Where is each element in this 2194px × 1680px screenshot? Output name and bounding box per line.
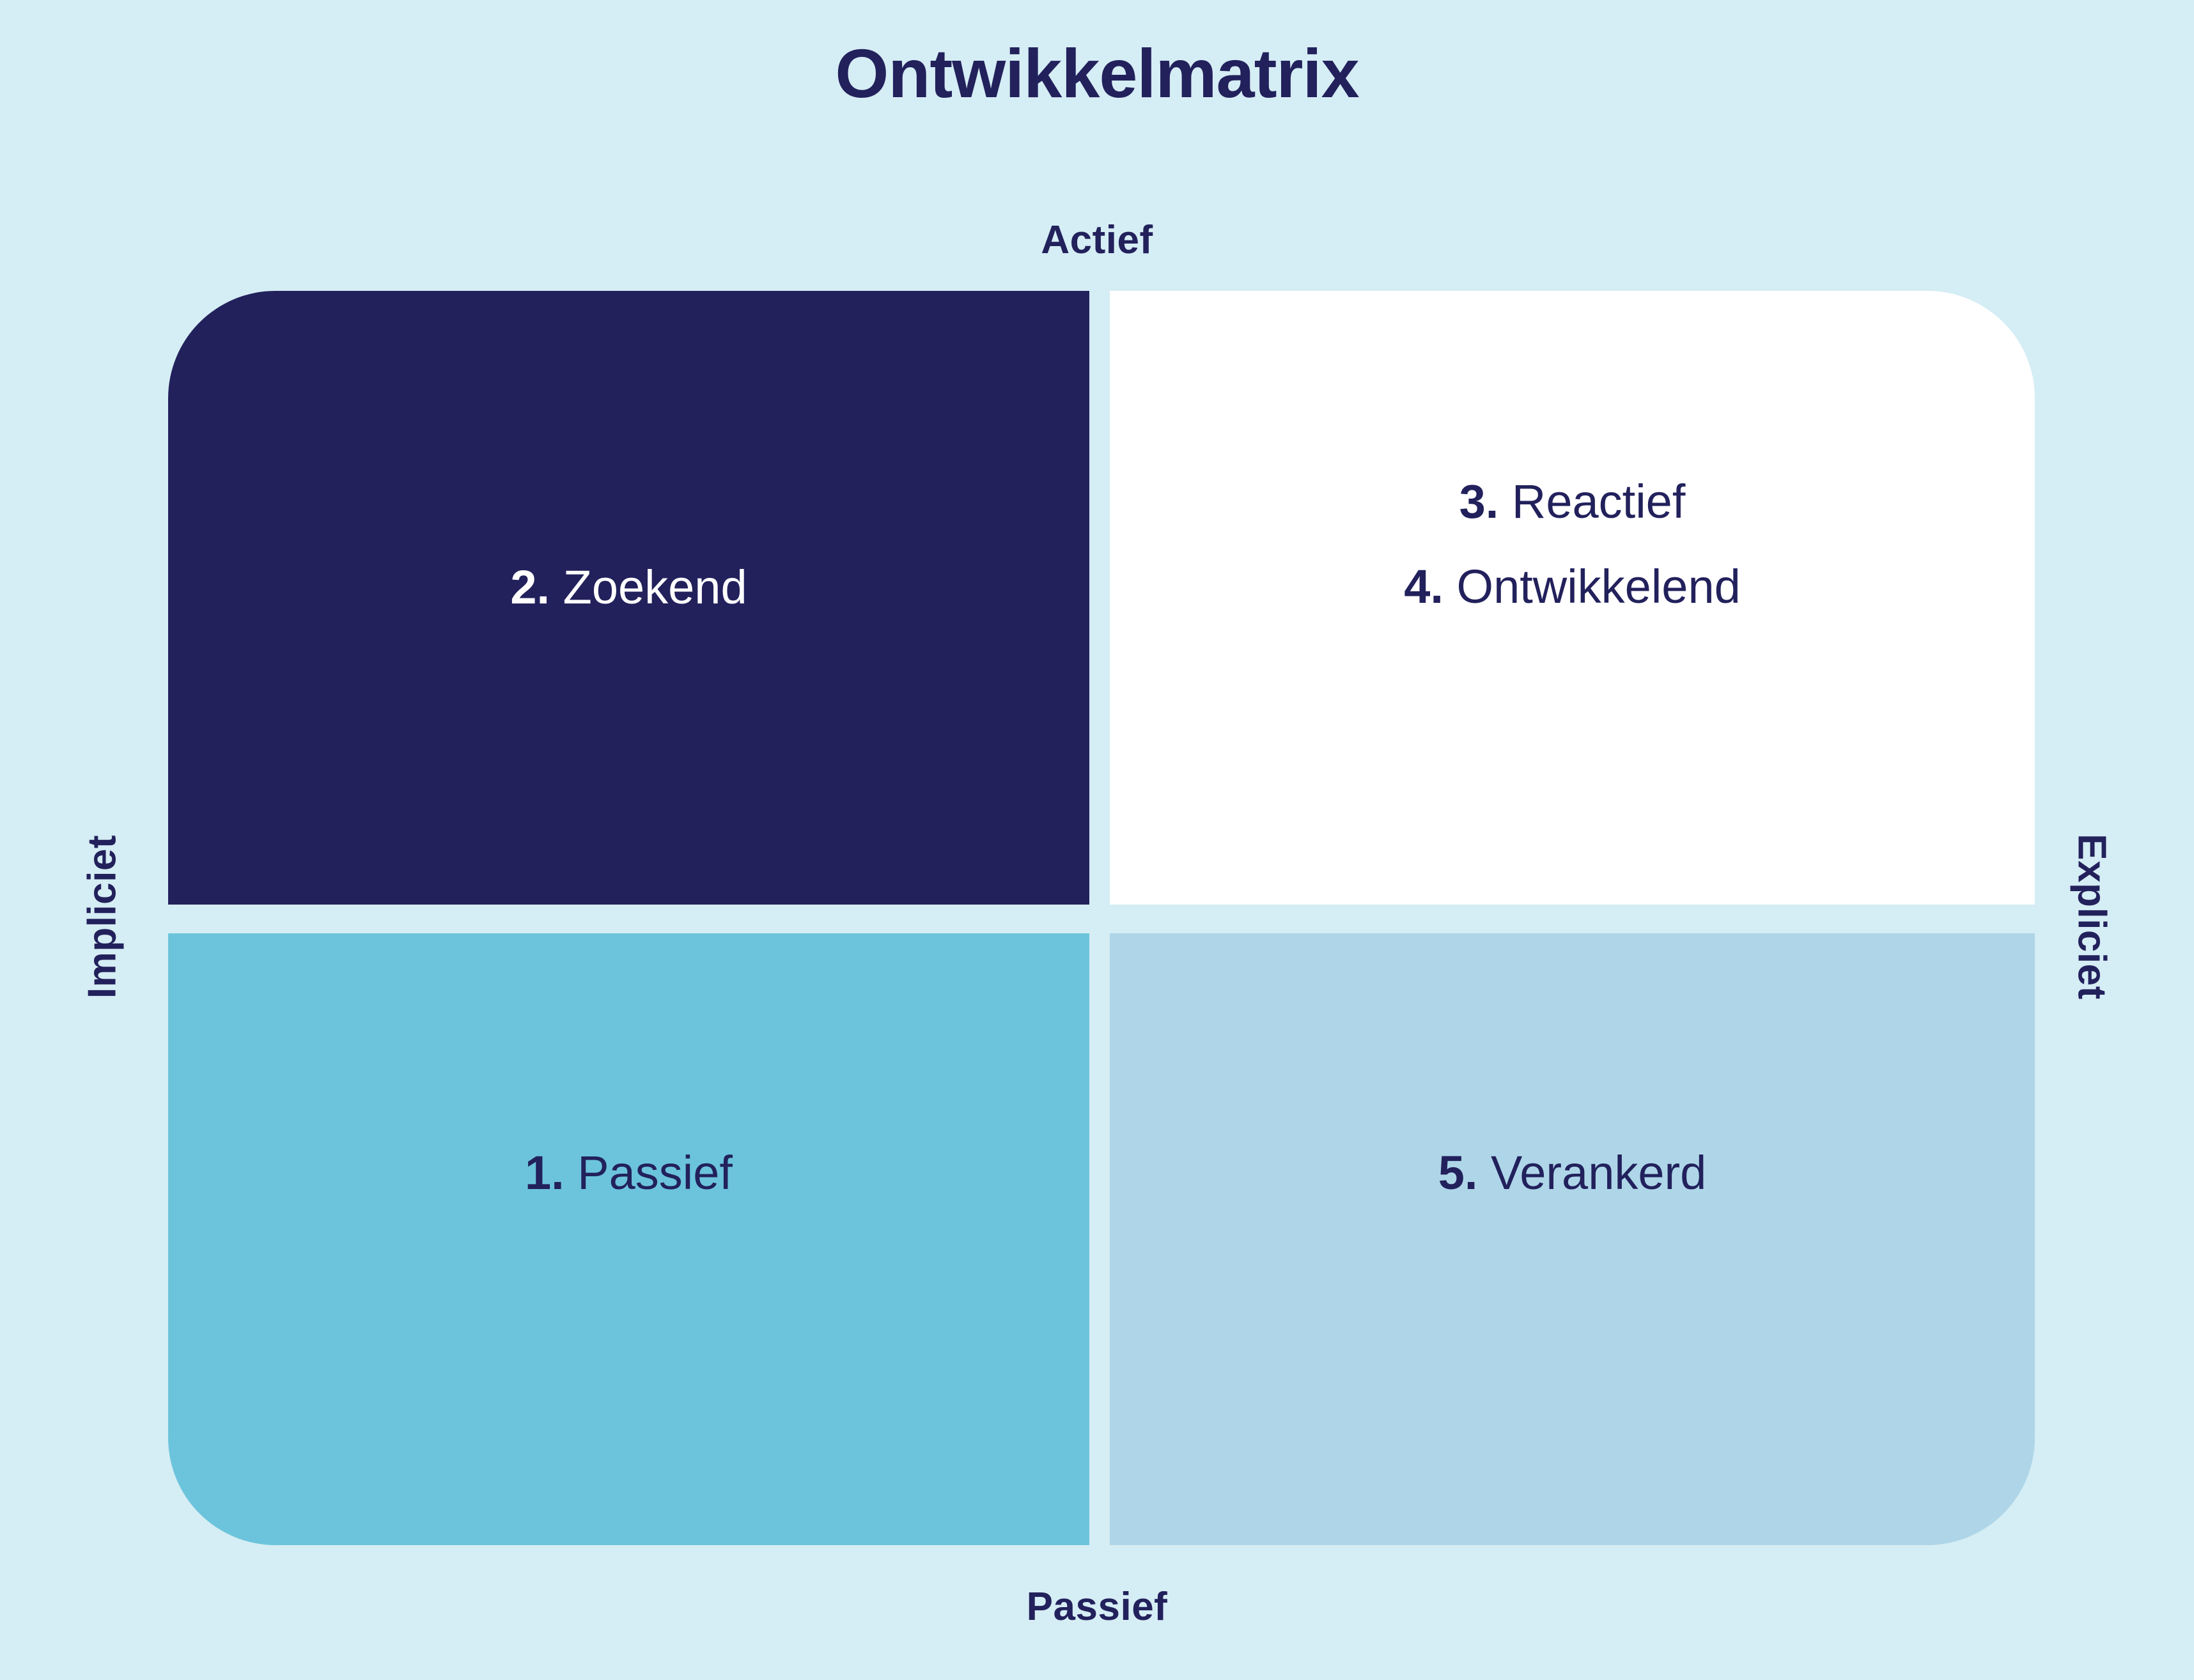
quadrant-entry: 3. Reactief [1404, 476, 1741, 527]
page-title: Ontwikkelmatrix [0, 32, 2194, 115]
axis-label-top: Actief [0, 217, 2194, 263]
quadrant-top-right-reactief-ontwikkelend[interactable]: 3. Reactief 4. Ontwikkelend [1110, 291, 2035, 905]
axis-label-left: Impliciet [80, 789, 125, 1045]
entry-number: 3. [1459, 475, 1499, 528]
quadrant-bottom-left-passief[interactable]: 1. Passief [168, 933, 1089, 1545]
quadrant-top-left-zoekend[interactable]: 2. Zoekend [168, 291, 1089, 905]
entry-label: Zoekend [563, 561, 747, 614]
axis-label-right: Expliciet [2069, 789, 2115, 1045]
entry-label: Ontwikkelend [1457, 560, 1741, 613]
entry-number: 2. [510, 561, 550, 614]
quadrant-entry: 2. Zoekend [510, 561, 747, 613]
quadrant-bottom-right-verankerd[interactable]: 5. Verankerd [1110, 933, 2035, 1545]
entry-label: Verankerd [1491, 1146, 1706, 1199]
entry-number: 5. [1438, 1146, 1478, 1199]
entry-number: 4. [1404, 560, 1443, 613]
axis-label-bottom: Passief [0, 1584, 2194, 1629]
entry-label: Passief [577, 1146, 733, 1199]
entry-label: Reactief [1512, 475, 1685, 528]
entry-number: 1. [525, 1146, 564, 1199]
quadrant-entry: 1. Passief [525, 1147, 733, 1199]
ontwikkelmatrix: 2. Zoekend 3. Reactief 4. Ontwikkelend 1… [168, 291, 2035, 1545]
quadrant-entry: 5. Verankerd [1438, 1147, 1707, 1199]
quadrant-entry: 4. Ontwikkelend [1404, 561, 1741, 612]
